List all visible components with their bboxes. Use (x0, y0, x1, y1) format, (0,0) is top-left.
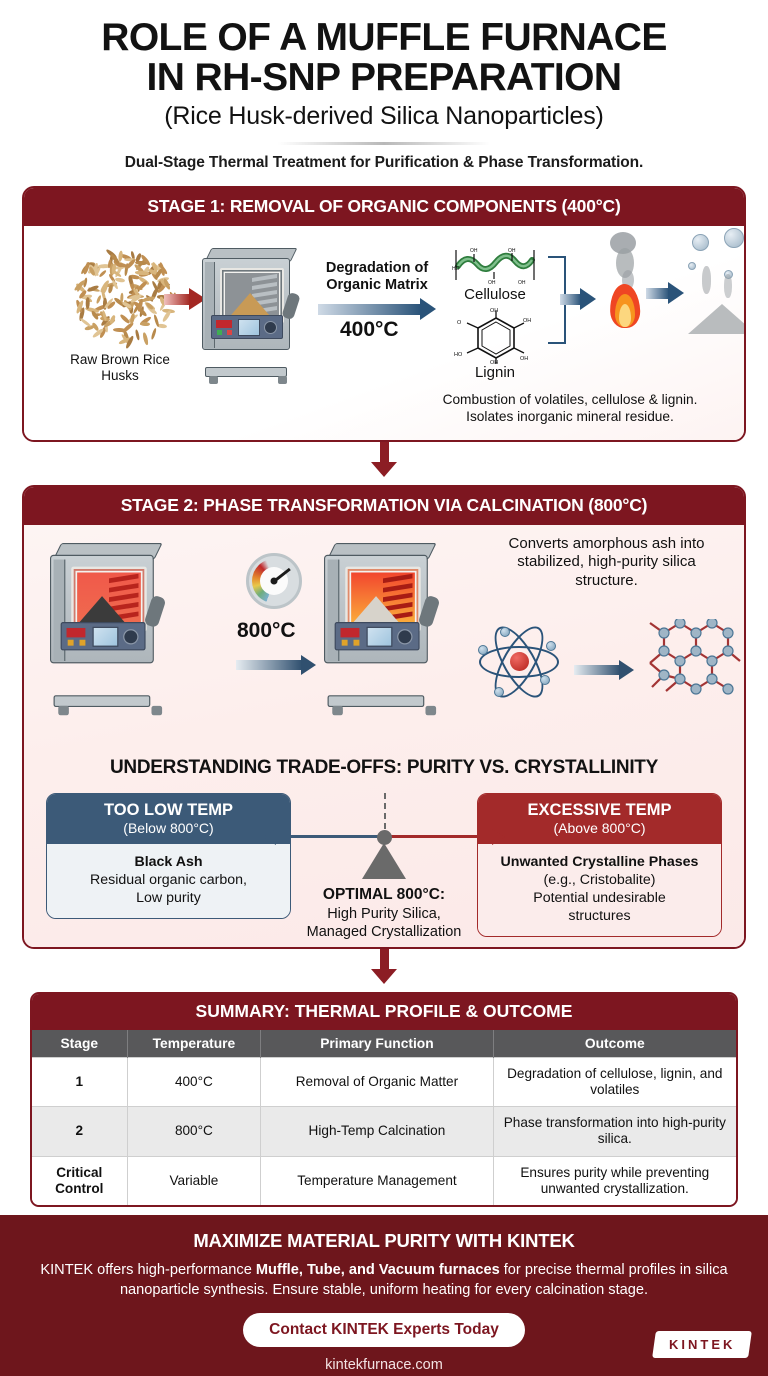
footer-url[interactable]: kintekfurnace.com (0, 1357, 768, 1373)
footer: MAXIMIZE MATERIAL PURITY WITH KINTEK KIN… (0, 1215, 768, 1376)
lignin-label: Lignin (438, 364, 552, 381)
rice-husk-grain (139, 322, 149, 326)
lignin-structure-icon: OHOHOH OHHOO (454, 308, 538, 364)
ash-pile-icon (688, 304, 746, 334)
stage-2-body: 800°C (24, 525, 744, 947)
bubble-icon (692, 234, 709, 251)
table-row: Critical Control Variable Temperature Ma… (32, 1156, 736, 1205)
rice-husk-grain (134, 329, 140, 340)
stage2-transition-arrow-icon (236, 655, 316, 675)
th-outcome: Outcome (493, 1030, 736, 1058)
th-primary-function: Primary Function (261, 1030, 493, 1058)
balance-illustration: OPTIMAL 800°C: High Purity Silica, Manag… (24, 793, 744, 943)
svg-text:OH: OH (490, 308, 498, 314)
rice-husk-grain (79, 317, 91, 327)
temperature-gauge-icon (246, 553, 302, 609)
cell-temperature: Variable (127, 1156, 261, 1205)
svg-text:HO: HO (454, 352, 463, 358)
svg-text:OH: OH (508, 248, 516, 254)
rice-husk-grain (135, 270, 149, 275)
cell-outcome: Degradation of cellulose, lignin, and vo… (493, 1057, 736, 1107)
cellulose-label: Cellulose (438, 286, 552, 303)
furnace-knob-icon (264, 321, 277, 334)
rice-husk-grain (86, 297, 90, 309)
atom-icon (476, 623, 562, 701)
header: ROLE OF A MUFFLE FURNACE IN RH-SNP PREPA… (0, 0, 768, 172)
stage-1-card: STAGE 1: REMOVAL OF ORGANIC COMPONENTS (… (22, 186, 746, 442)
cellulose-structure-icon: OHOH HOOHOH (452, 244, 538, 286)
footer-body-pre: KINTEK offers high-performance (40, 1262, 256, 1278)
contact-cta-button[interactable]: Contact KINTEK Experts Today (243, 1313, 525, 1347)
rice-husk-grain (96, 295, 102, 305)
degradation-arrow-icon (318, 298, 436, 320)
rice-husk-grain (153, 314, 160, 327)
th-temperature: Temperature (127, 1030, 261, 1058)
footer-body-bold: Muffle, Tube, and Vacuum furnaces (256, 1262, 500, 1278)
stage-2-note: Converts amorphous ash into stabilized, … (479, 535, 734, 592)
black-ash-sample (79, 596, 124, 622)
svg-text:OH: OH (523, 318, 531, 324)
balance-right-arrow-icon (492, 829, 505, 845)
optimal-detail-2: Managed Crystallization (307, 924, 462, 940)
table-row: 2 800°C High-Temp Calcination Phase tran… (32, 1107, 736, 1157)
rice-husk-illustration (60, 248, 178, 344)
cell-function: Removal of Organic Matter (261, 1057, 493, 1107)
residue-arrow-icon (646, 282, 684, 304)
tradeoff-title: UNDERSTANDING TRADE-OFFS: PURITY VS. CRY… (24, 757, 744, 779)
connector-arrow-2 (371, 949, 397, 984)
summary-table: Stage Temperature Primary Function Outco… (32, 1030, 736, 1206)
summary-heading: SUMMARY: THERMAL PROFILE & OUTCOME (32, 994, 736, 1030)
page-tagline: Dual-Stage Thermal Treatment for Purific… (24, 154, 744, 172)
table-row: 1 400°C Removal of Organic Matter Degrad… (32, 1057, 736, 1107)
combustion-arrow-icon (560, 288, 596, 310)
feed-arrow-icon (164, 288, 206, 310)
husk-sample (231, 293, 269, 315)
furnace-handle-icon (281, 291, 300, 319)
svg-text:OH: OH (470, 248, 478, 254)
cell-function: High-Temp Calcination (261, 1107, 493, 1157)
rice-husk-grain (142, 332, 149, 346)
cell-outcome: Phase transformation into high-purity si… (493, 1107, 736, 1157)
title-divider (278, 142, 490, 145)
cell-temperature: 800°C (127, 1107, 261, 1157)
furnace-control-panel (335, 622, 420, 650)
page-subtitle: (Rice Husk-derived Silica Nanoparticles) (24, 102, 744, 131)
title-line-1: ROLE OF A MUFFLE FURNACE (24, 18, 744, 58)
stage-1-note: Combustion of volatiles, cellulose & lig… (410, 391, 730, 426)
stage1-temperature: 400°C (340, 318, 399, 342)
svg-text:O: O (457, 320, 462, 326)
muffle-furnace-stage2-after-icon (324, 543, 454, 696)
stage-2-card: STAGE 2: PHASE TRANSFORMATION VIA CALCIN… (22, 485, 746, 949)
rice-husk-grain (91, 321, 99, 331)
stage-1-heading: STAGE 1: REMOVAL OF ORGANIC COMPONENTS (… (24, 188, 744, 226)
furnace-control-panel (61, 622, 146, 650)
cell-stage: Critical Control (32, 1156, 127, 1205)
footer-body: KINTEK offers high-performance Muffle, T… (0, 1261, 768, 1300)
muffle-furnace-stage2-before-icon (50, 543, 180, 696)
footer-title: MAXIMIZE MATERIAL PURITY WITH KINTEK (0, 1230, 768, 1252)
th-stage: Stage (32, 1030, 127, 1058)
svg-text:HO: HO (452, 266, 460, 272)
page-title: ROLE OF A MUFFLE FURNACE IN RH-SNP PREPA… (24, 18, 744, 98)
connector-arrow-1 (371, 442, 397, 477)
title-line-2: IN RH-SNP PREPARATION (24, 58, 744, 98)
rice-husk-grain (118, 250, 123, 261)
cell-function: Temperature Management (261, 1156, 493, 1205)
degradation-label: Degradation of Organic Matrix (318, 260, 436, 294)
kintek-logo-text: KINTEK (669, 1337, 735, 1352)
stage2-temperature: 800°C (237, 619, 296, 643)
white-silica-sample (353, 596, 398, 622)
cell-outcome: Ensures purity while preventing unwanted… (493, 1156, 736, 1205)
kintek-logo: KINTEK (652, 1331, 752, 1358)
balance-left-arrow-icon (263, 829, 276, 845)
cell-stage: 1 (32, 1057, 127, 1107)
table-header-row: Stage Temperature Primary Function Outco… (32, 1030, 736, 1058)
rice-husk-grain (150, 327, 157, 339)
balance-dashed-line (384, 793, 386, 829)
stage-2-heading: STAGE 2: PHASE TRANSFORMATION VIA CALCIN… (24, 487, 744, 525)
cell-stage: 2 (32, 1107, 127, 1157)
structure-arrow-icon (574, 660, 634, 680)
fulcrum-icon (362, 843, 406, 879)
husk-caption: Raw Brown Rice Husks (50, 352, 190, 384)
optimal-label: OPTIMAL 800°C: (274, 885, 494, 905)
svg-text:OH: OH (520, 356, 528, 362)
muffle-furnace-stage1-icon (202, 248, 302, 368)
infographic-page: ROLE OF A MUFFLE FURNACE IN RH-SNP PREPA… (0, 0, 768, 1376)
optimal-detail-1: High Purity Silica, (327, 906, 441, 922)
cell-temperature: 400°C (127, 1057, 261, 1107)
stage-1-body: Raw Brown Rice Husks (24, 226, 744, 440)
furnace-control-panel (211, 315, 283, 339)
optimal-text: OPTIMAL 800°C: High Purity Silica, Manag… (274, 885, 494, 942)
silica-lattice-icon (646, 619, 742, 703)
summary-table-card: SUMMARY: THERMAL PROFILE & OUTCOME Stage… (30, 992, 738, 1208)
